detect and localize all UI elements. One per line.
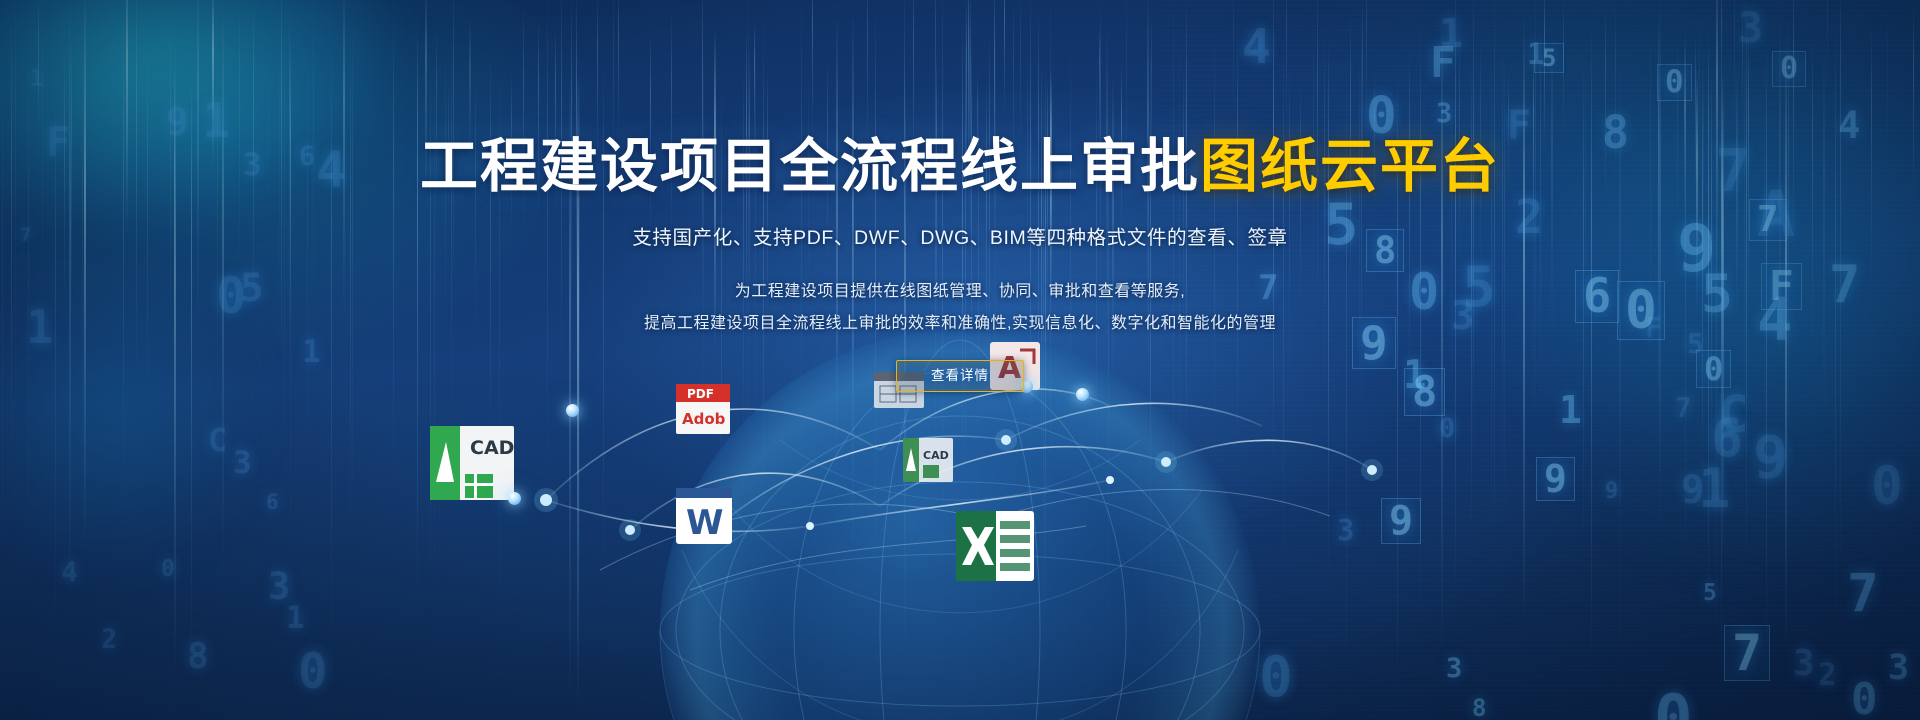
matrix-digit: 6	[1711, 412, 1743, 465]
matrix-digit: 3	[233, 448, 252, 479]
matrix-digit: 0	[1439, 415, 1455, 442]
matrix-digit: 1	[1698, 462, 1731, 516]
view-details-button[interactable]: 查看详情	[896, 360, 1024, 392]
matrix-digit: 1	[1559, 391, 1582, 429]
svg-text:CAD: CAD	[470, 437, 514, 459]
matrix-digit: 6	[266, 492, 279, 513]
matrix-digit: 5	[1703, 582, 1717, 605]
matrix-digit: 9	[1681, 471, 1704, 510]
word-icon-glyph: W	[672, 484, 736, 548]
matrix-digit: 3	[1337, 516, 1354, 545]
hero-banner: 57F48320007443093555A1130177C80F361F5399…	[0, 0, 1920, 720]
matrix-digit: 8	[187, 639, 209, 675]
matrix-digit: 3	[1446, 655, 1462, 682]
matrix-digit: 3	[268, 568, 290, 605]
page-title: 工程建设项目全流程线上审批图纸云平台	[0, 0, 1920, 199]
word-icon[interactable]: W	[672, 484, 736, 553]
matrix-digit: 4	[61, 558, 78, 586]
matrix-digit: 7	[1847, 567, 1879, 620]
network-node-dot	[508, 492, 521, 505]
matrix-digit: 7	[1675, 394, 1692, 422]
dwg-icon[interactable]: CAD	[900, 435, 956, 490]
matrix-digit-boxed: 9	[1536, 457, 1575, 501]
matrix-digit: 0	[298, 647, 328, 696]
matrix-digit-boxed: 9	[1381, 498, 1421, 544]
description-line-1: 为工程建设项目提供在线图纸管理、协同、审批和查看等服务,	[0, 276, 1920, 308]
svg-text:W: W	[686, 503, 724, 543]
hero-content: 工程建设项目全流程线上审批图纸云平台 支持国产化、支持PDF、DWF、DWG、B…	[0, 0, 1920, 392]
network-node-dot	[566, 404, 579, 417]
matrix-digit: 0	[1654, 687, 1693, 720]
svg-text:CAD: CAD	[923, 449, 949, 462]
svg-text:Adob: Adob	[682, 410, 726, 428]
matrix-digit: 1	[286, 603, 305, 634]
page-title-white-part: 工程建设项目全流程线上审批	[420, 134, 1200, 199]
matrix-digit: 3	[1888, 651, 1909, 686]
matrix-digit: 9	[1753, 428, 1789, 487]
description-line-2: 提高工程建设项目全流程线上审批的效率和准确性,实现信息化、数字化和智能化的管理	[0, 308, 1920, 340]
matrix-digit: 3	[1793, 646, 1815, 682]
matrix-digit: C	[208, 424, 227, 456]
excel-icon-glyph	[950, 505, 1040, 587]
cta-container: 查看详情	[0, 340, 1920, 392]
matrix-digit: 0	[161, 558, 175, 581]
cad-icon-glyph: CAD	[424, 420, 520, 506]
matrix-digit: 2	[1818, 660, 1837, 691]
subtitle: 支持国产化、支持PDF、DWF、DWG、BIM等四种格式文件的查看、签章	[0, 199, 1920, 250]
matrix-digit: 0	[1259, 650, 1293, 706]
matrix-digit: C	[1718, 390, 1749, 441]
matrix-digit: 9	[1605, 481, 1618, 503]
matrix-digit-boxed: 7	[1724, 625, 1770, 681]
matrix-digit: 8	[1472, 696, 1486, 720]
page-title-highlight-part: 图纸云平台	[1200, 134, 1500, 199]
matrix-digit: 2	[101, 626, 117, 653]
cad-icon[interactable]: CAD	[424, 420, 520, 511]
matrix-digit: 0	[1871, 460, 1903, 513]
excel-icon[interactable]	[950, 505, 1040, 592]
description: 为工程建设项目提供在线图纸管理、协同、审批和查看等服务, 提高工程建设项目全流程…	[0, 250, 1920, 340]
matrix-digit: 0	[1851, 678, 1878, 720]
dwg-icon-glyph: CAD	[900, 435, 956, 485]
